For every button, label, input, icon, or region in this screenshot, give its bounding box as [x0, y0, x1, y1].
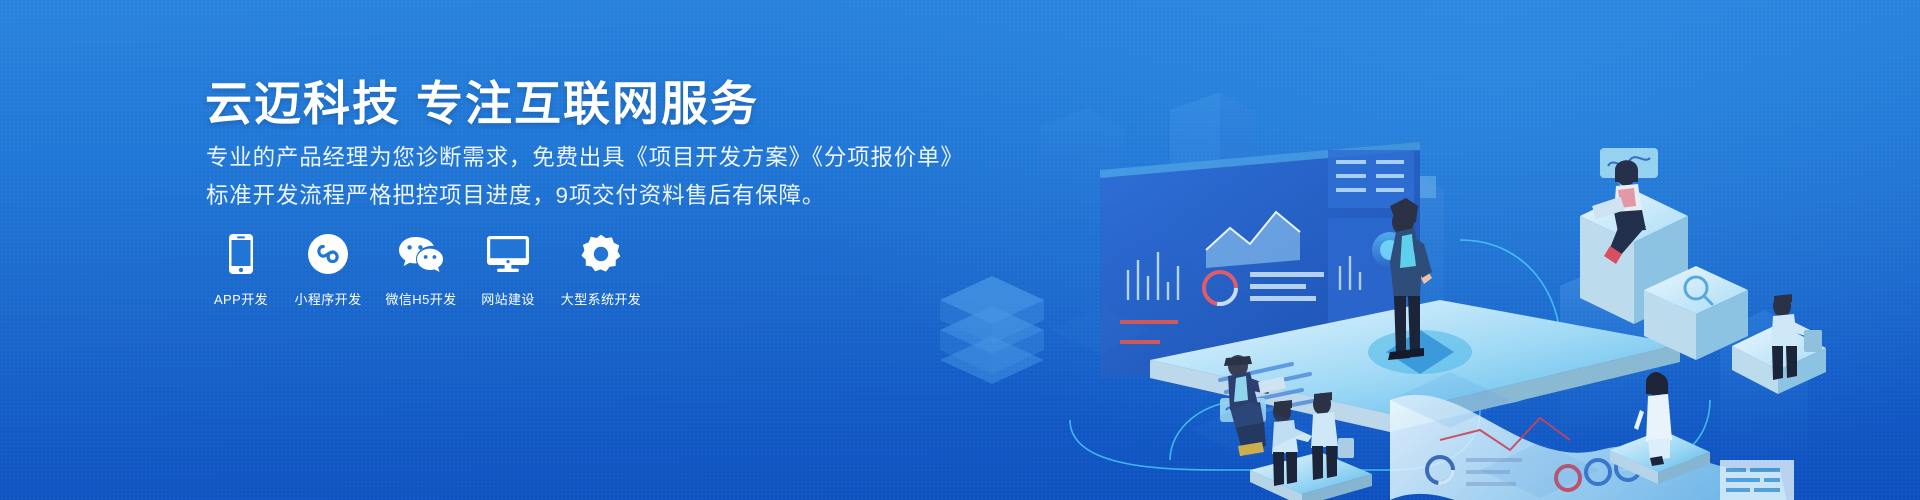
- service-item-app[interactable]: APP开发: [205, 232, 277, 308]
- service-label: 网站建设: [481, 289, 535, 308]
- hero-banner: 云迈科技 专注互联网服务 专业的产品经理为您诊断需求，免费出具《项目开发方案》《…: [0, 0, 1920, 500]
- dashboard-screen: [1100, 142, 1420, 378]
- service-item-mini-program[interactable]: 小程序开发: [286, 232, 370, 308]
- person-presenter: [1388, 198, 1432, 360]
- subtitle-line-2: 标准开发流程严格把控项目进度，9项交付资料售后有保障。: [206, 185, 825, 208]
- service-list: APP开发 小程序开发: [205, 232, 658, 308]
- server-stack: [940, 276, 1044, 384]
- person-pair-left: [1250, 392, 1372, 500]
- service-label: 小程序开发: [294, 289, 361, 308]
- service-label: 大型系统开发: [561, 289, 641, 308]
- service-item-wechat-h5[interactable]: 微信H5开发: [379, 232, 463, 308]
- chat-bubble: [1600, 148, 1658, 188]
- page-title: 云迈科技 专注互联网服务: [205, 76, 759, 131]
- hero-content: 云迈科技 专注互联网服务 专业的产品经理为您诊断需求，免费出具《项目开发方案》《…: [205, 0, 925, 500]
- right-platform-cubes: [1580, 190, 1826, 394]
- ground-diamonds: [1050, 306, 1600, 498]
- person-seated-laptop: [1224, 355, 1286, 456]
- mobile-phone-icon: [229, 232, 253, 276]
- wechat-icon: [399, 232, 443, 276]
- gear-icon: [581, 232, 621, 276]
- tablet-platform: [1150, 300, 1680, 432]
- person-standing-right: [1610, 372, 1710, 484]
- data-ribbon: [1390, 395, 1800, 500]
- background-buildings: [1040, 92, 1808, 470]
- connector-lines: [1070, 240, 1710, 470]
- subtitle-line-1: 专业的产品经理为您诊断需求，免费出具《项目开发方案》《分项报价单》: [206, 147, 964, 170]
- chat-bubble-small: [1220, 398, 1266, 422]
- person-seated-cube: [1592, 160, 1646, 264]
- monitor-icon: [487, 232, 529, 276]
- service-item-large-system[interactable]: 大型系统开发: [553, 232, 649, 308]
- isometric-illustration: [920, 0, 1920, 500]
- service-label: APP开发: [214, 289, 268, 308]
- illustration-container: [920, 0, 1920, 500]
- service-label: 微信H5开发: [385, 289, 456, 308]
- service-item-website[interactable]: 网站建设: [472, 232, 544, 308]
- person-briefcase: [1771, 294, 1822, 380]
- mini-program-icon: [308, 232, 348, 276]
